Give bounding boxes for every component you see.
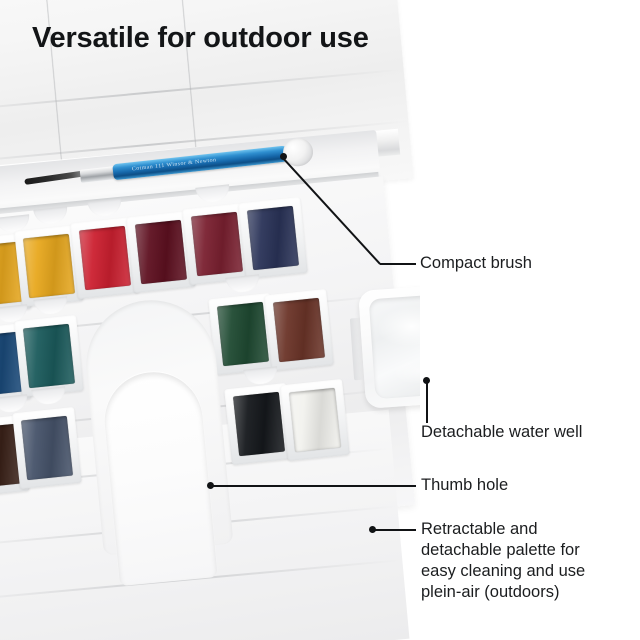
brush-bristle-tip — [24, 170, 84, 184]
pan-navy-blue — [247, 206, 299, 270]
pan-yellow — [23, 234, 75, 298]
leader-line — [373, 529, 416, 531]
pan-tray — [280, 379, 350, 461]
callout-label-compact-brush: Compact brush — [420, 253, 532, 274]
callout-line: plein-air (outdoors) — [421, 582, 621, 603]
water-well-basin — [369, 291, 420, 399]
leader-line — [380, 263, 416, 265]
leader-line — [426, 381, 428, 423]
product-photo: Cotman 111 Winsor & Newton — [0, 0, 420, 640]
pan-black — [233, 392, 285, 456]
pan-dark-green — [217, 302, 269, 366]
pan-slate-blue — [21, 416, 73, 480]
callout-line: Retractable and — [421, 519, 621, 540]
pan-white — [289, 388, 341, 452]
callout-label-retractable-palette: Retractable and detachable palette for e… — [421, 519, 621, 603]
brush-ferrule — [80, 166, 117, 183]
pan-dark-maroon — [135, 220, 187, 284]
pan-burgundy — [191, 212, 243, 276]
callout-line: easy cleaning and use — [421, 561, 621, 582]
page-title: Versatile for outdoor use — [32, 22, 369, 55]
pan-red — [79, 226, 131, 290]
callout-label-thumb-hole: Thumb hole — [421, 475, 508, 496]
callout-line: detachable palette for — [421, 540, 621, 561]
callout-label-water-well: Detachable water well — [421, 422, 582, 443]
pan-tray — [238, 197, 308, 279]
pan-tray — [12, 407, 82, 489]
pan-teal-green — [23, 324, 75, 388]
product-feature-image: Cotman 111 Winsor & Newton — [0, 0, 640, 640]
pan-tray — [264, 289, 334, 371]
detachable-water-well — [358, 281, 420, 409]
pan-tray — [14, 315, 84, 397]
leader-line — [211, 485, 416, 487]
pan-brown — [273, 298, 325, 362]
